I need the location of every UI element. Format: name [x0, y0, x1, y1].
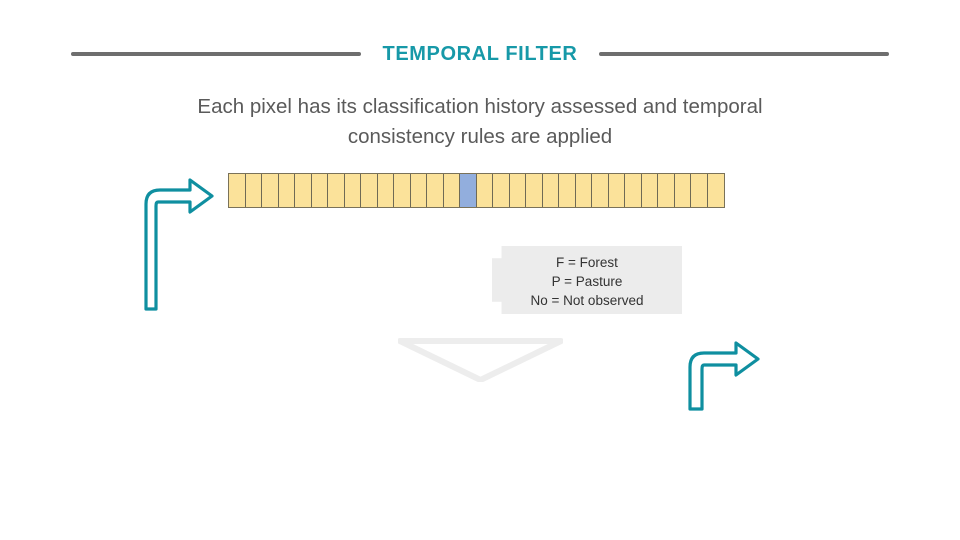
strip-cell [378, 174, 395, 207]
strip-cell [642, 174, 659, 207]
header: TEMPORAL FILTER [0, 38, 960, 70]
subtitle-line-1: Each pixel has its classification histor… [130, 92, 830, 122]
strip-cell [493, 174, 510, 207]
strip-cell [444, 174, 461, 207]
strip-cell [312, 174, 329, 207]
strip-cell [691, 174, 708, 207]
strip-cell [543, 174, 560, 207]
strip-cell [345, 174, 362, 207]
strip-cell [262, 174, 279, 207]
strip-cell [361, 174, 378, 207]
strip-cell [576, 174, 593, 207]
strip-cell [625, 174, 642, 207]
strip-cell-highlighted [460, 174, 477, 207]
strip-cell [675, 174, 692, 207]
page-title: TEMPORAL FILTER [383, 43, 578, 66]
arrow-bottom-strip-to-stack-icon [678, 339, 764, 411]
strip-cell [411, 174, 428, 207]
strip-cell [279, 174, 296, 207]
strip-cell [427, 174, 444, 207]
header-rule-left [71, 52, 361, 56]
legend-row: F = Forest [492, 253, 682, 272]
strip-cell [328, 174, 345, 207]
strip-cell [246, 174, 263, 207]
strip-cell [708, 174, 725, 207]
strip-cell [526, 174, 543, 207]
strip-cell [609, 174, 626, 207]
strip-cell [394, 174, 411, 207]
strip-cell [592, 174, 609, 207]
down-chevron-icon [398, 337, 563, 382]
strip-cell [477, 174, 494, 207]
legend-row: P = Pasture [492, 272, 682, 291]
strip-cell [229, 174, 246, 207]
layer-stack-right [778, 236, 960, 486]
slide-canvas: TEMPORAL FILTER Each pixel has its class… [0, 0, 960, 540]
header-rule-right [599, 52, 889, 56]
timeline-strip-top [228, 173, 725, 208]
subtitle-line-2: consistency rules are applied [130, 122, 830, 152]
subtitle: Each pixel has its classification histor… [130, 92, 830, 152]
strip-cell [559, 174, 576, 207]
strip-cell [658, 174, 675, 207]
layer-stack-left [58, 236, 248, 486]
legend-callout: F = Forest P = Pasture No = Not observed [492, 246, 682, 314]
legend-row: No = Not observed [492, 291, 682, 310]
formula-block [236, 238, 486, 264]
strip-cell [295, 174, 312, 207]
strip-cell [510, 174, 527, 207]
